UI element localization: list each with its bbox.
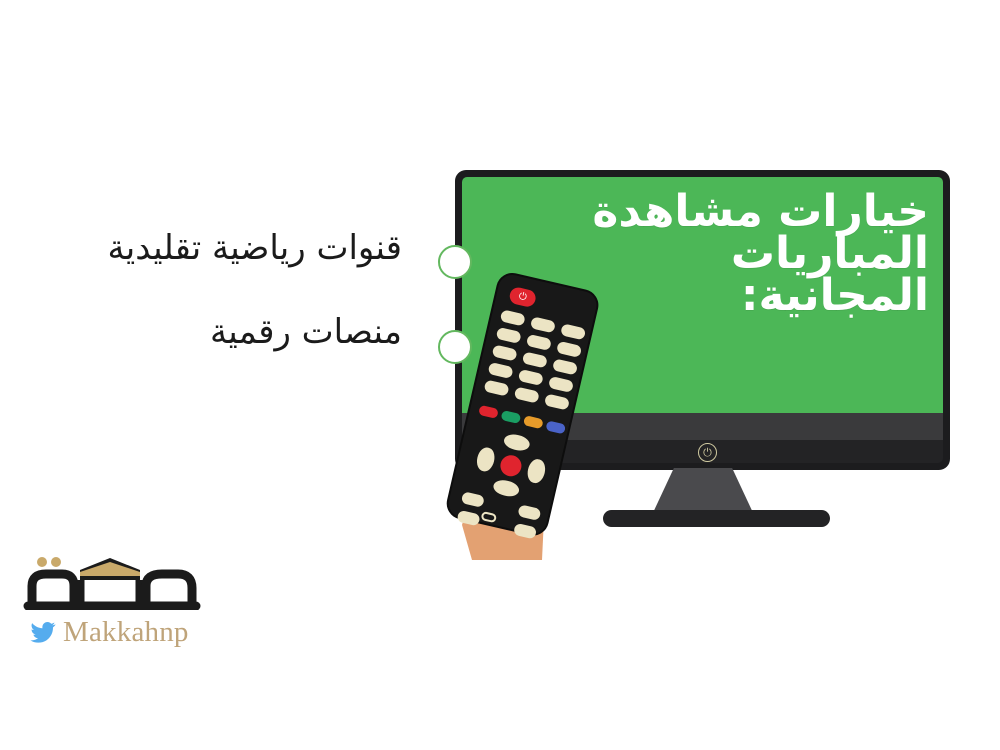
- option-label-digital-platforms: منصات رقمية: [0, 312, 418, 352]
- makkah-logo: Makkahnp: [22, 540, 212, 660]
- infographic-canvas: قنوات رياضية تقليدية منصات رقمية خيارات …: [0, 0, 1000, 750]
- makkah-wordmark-icon: [22, 540, 202, 610]
- connector-dot-option-2: [438, 330, 472, 364]
- tv-power-icon: ⏻: [698, 443, 717, 462]
- remote-color-button-green: [501, 410, 522, 424]
- lower-key: [457, 510, 481, 527]
- dpad-right-icon: [525, 458, 547, 485]
- keypad-key: [526, 334, 552, 351]
- keypad-key: [556, 341, 582, 358]
- lower-key: [461, 491, 485, 508]
- keypad-key: [488, 362, 514, 379]
- remote-color-button-orange: [523, 415, 544, 429]
- headline-line-2: المباريات: [509, 233, 929, 275]
- keypad-key: [514, 386, 540, 403]
- headline-line-1: خيارات مشاهدة: [509, 191, 929, 233]
- tv-stand-base: [603, 510, 830, 527]
- remote-dpad: [470, 427, 550, 503]
- remote-keypad: [482, 309, 586, 416]
- option-label-traditional-channels: قنوات رياضية تقليدية: [0, 228, 418, 268]
- keypad-key: [500, 309, 526, 326]
- lower-key: [517, 504, 541, 521]
- dpad-left-icon: [475, 446, 497, 473]
- keypad-key: [522, 351, 548, 368]
- remote-color-button-red: [478, 405, 499, 419]
- keypad-key: [518, 369, 544, 386]
- keypad-key: [492, 344, 518, 361]
- connector-dot-option-1: [438, 245, 472, 279]
- remote-power-button-icon: ⏻: [508, 286, 537, 308]
- keypad-key: [548, 376, 574, 393]
- options-list: قنوات رياضية تقليدية منصات رقمية: [0, 228, 418, 352]
- keypad-key: [496, 327, 522, 344]
- makkah-arabic-logo-svg: [22, 540, 202, 610]
- dpad-ok-button: [498, 453, 523, 478]
- keypad-key: [544, 393, 570, 410]
- keypad-key: [530, 316, 556, 333]
- keypad-key: [560, 323, 586, 340]
- twitter-bird-icon: [30, 622, 56, 643]
- keypad-key: [484, 379, 510, 396]
- dpad-down-icon: [492, 478, 521, 498]
- logo-twitter-handle: Makkahnp: [63, 616, 189, 649]
- logo-caption: Makkahnp: [22, 616, 212, 649]
- dpad-up-icon: [502, 432, 531, 452]
- lower-key: [513, 523, 537, 540]
- keypad-key: [552, 358, 578, 375]
- remote-color-button-blue: [545, 420, 566, 434]
